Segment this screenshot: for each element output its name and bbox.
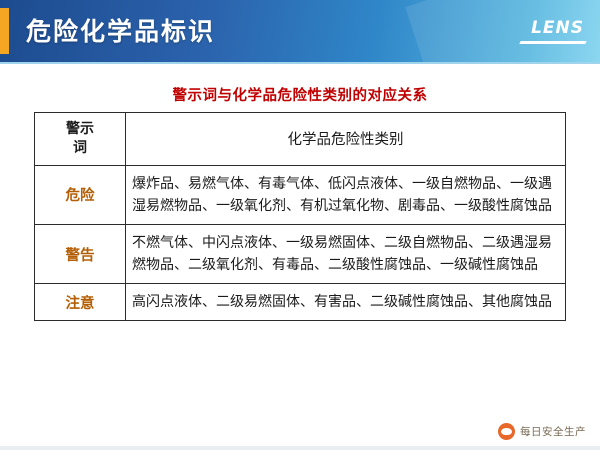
table-header-row: 警示 词 化学品危险性类别	[35, 113, 566, 166]
table-row: 警告 不燃气体、中闪点液体、一级易燃固体、二级自燃物品、二级遇湿易燃物品、二级氧…	[35, 225, 566, 284]
slide: 危险化学品标识 LENS 警示词与化学品危险性类别的对应关系 警示 词 化学品危…	[0, 0, 600, 450]
table-container: 警示 词 化学品危险性类别 危险 爆炸品、易燃气体、有毒气体、低闪点液体、一级自…	[34, 112, 566, 321]
header-signal-word-line1: 警示	[41, 120, 119, 139]
row-signal-word-warning: 警告	[35, 225, 126, 284]
header-accent-bar	[0, 8, 9, 54]
header-signal-word-line2: 词	[41, 139, 119, 158]
table-row: 危险 爆炸品、易燃气体、有毒气体、低闪点液体、一级自燃物品、一级遇湿易燃物品、一…	[35, 165, 566, 224]
page-title: 危险化学品标识	[26, 12, 215, 48]
header-cell-signal-word: 警示 词	[35, 113, 126, 166]
slide-header: 危险化学品标识 LENS	[0, 0, 600, 62]
row-category-warning: 不燃气体、中闪点液体、一级易燃固体、二级自燃物品、二级遇湿易燃物品、二级氧化剂、…	[126, 225, 566, 284]
lens-logo-underline	[519, 41, 586, 44]
bottom-strip	[0, 446, 600, 450]
row-signal-word-caution: 注意	[35, 284, 126, 321]
row-category-danger: 爆炸品、易燃气体、有毒气体、低闪点液体、一级自燃物品、一级遇湿易燃物品、一级氧化…	[126, 165, 566, 224]
row-category-caution: 高闪点液体、二级易燃固体、有害品、二级碱性腐蚀品、其他腐蚀品	[126, 284, 566, 321]
section-subtitle: 警示词与化学品危险性类别的对应关系	[0, 84, 600, 105]
lens-logo: LENS	[531, 18, 584, 38]
hazard-signal-word-table: 警示 词 化学品危险性类别 危险 爆炸品、易燃气体、有毒气体、低闪点液体、一级自…	[34, 112, 566, 321]
table-row: 注意 高闪点液体、二级易燃固体、有害品、二级碱性腐蚀品、其他腐蚀品	[35, 284, 566, 321]
header-cell-category: 化学品危险性类别	[126, 113, 566, 166]
row-signal-word-danger: 危险	[35, 165, 126, 224]
header-divider	[0, 62, 600, 64]
footer-watermark-text: 每日安全生产	[520, 424, 586, 439]
wechat-icon	[498, 423, 515, 440]
footer-watermark: 每日安全生产	[498, 423, 586, 440]
